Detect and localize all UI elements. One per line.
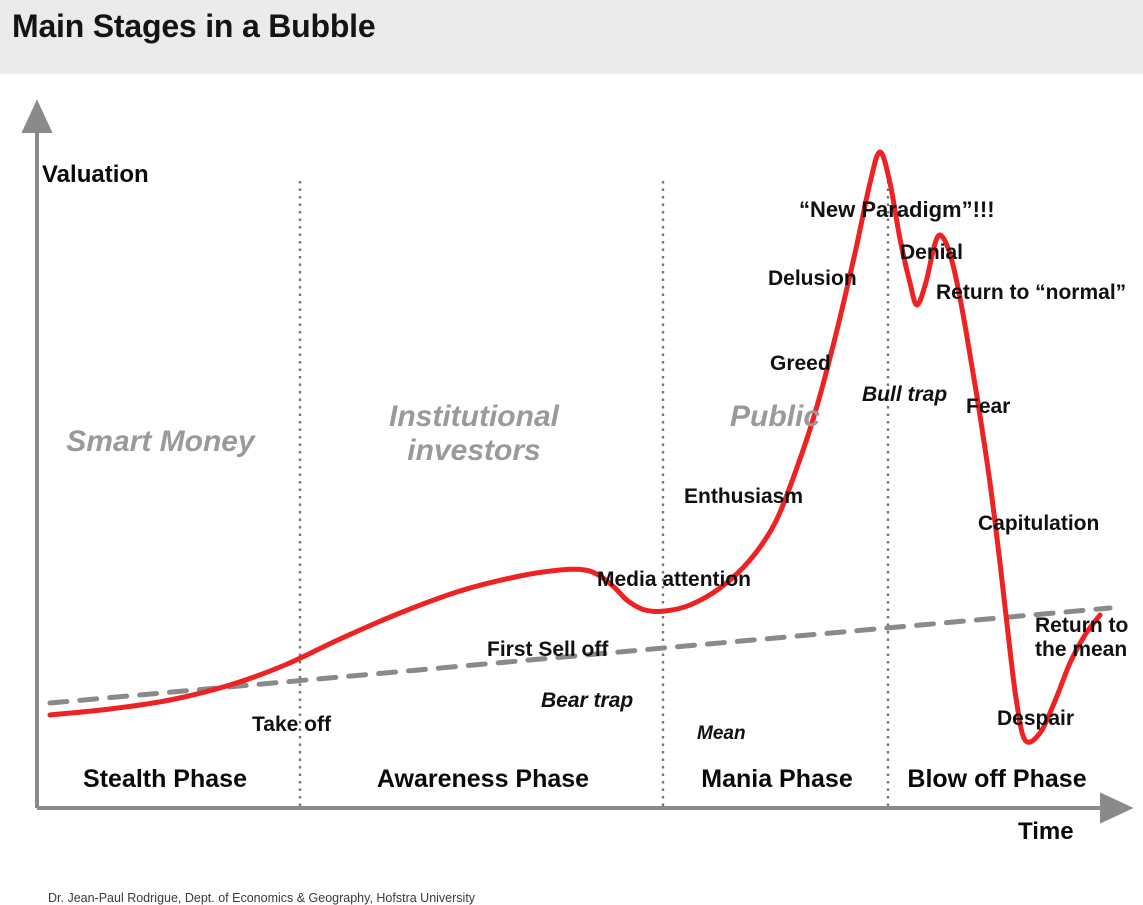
annotation-mean: Mean: [697, 723, 746, 744]
annotation-return-to-normal: Return to “normal”: [936, 281, 1126, 305]
annotation-media-attention: Media attention: [597, 568, 751, 592]
annotation-delusion: Delusion: [768, 267, 857, 291]
annotation-return-to-the-mean: Return to the mean: [1035, 614, 1128, 661]
annotation-bull-trap: Bull trap: [862, 383, 947, 407]
y-axis-label: Valuation: [42, 161, 149, 189]
x-axis-label: Time: [1018, 818, 1074, 846]
annotation-take-off: Take off: [252, 713, 331, 737]
phase-label-awareness-phase: Awareness Phase: [343, 765, 623, 794]
phase-label-blow-off-phase: Blow off Phase: [857, 765, 1137, 794]
attribution-note: Dr. Jean-Paul Rodrigue, Dept. of Economi…: [48, 891, 475, 905]
annotation-new-paradigm: “New Paradigm”!!!: [799, 198, 995, 223]
annotation-capitulation: Capitulation: [978, 512, 1099, 536]
annotation-fear: Fear: [966, 395, 1010, 419]
annotation-bear-trap: Bear trap: [541, 689, 633, 713]
annotation-despair: Despair: [997, 707, 1074, 731]
participant-group-institutional-investors: Institutional investors: [374, 400, 574, 467]
participant-group-public: Public: [715, 400, 835, 434]
annotation-enthusiasm: Enthusiasm: [684, 485, 803, 509]
title-bar: Main Stages in a Bubble: [0, 0, 1143, 75]
page-title: Main Stages in a Bubble: [12, 8, 375, 45]
phase-label-stealth-phase: Stealth Phase: [25, 765, 305, 794]
annotation-greed: Greed: [770, 352, 831, 376]
annotation-denial: Denial: [900, 241, 963, 265]
participant-group-smart-money: Smart Money: [63, 425, 258, 459]
bubble-stages-chart: Valuation Time Take offFirst Sell offBea…: [0, 73, 1143, 855]
annotation-first-sell-off: First Sell off: [487, 638, 608, 662]
